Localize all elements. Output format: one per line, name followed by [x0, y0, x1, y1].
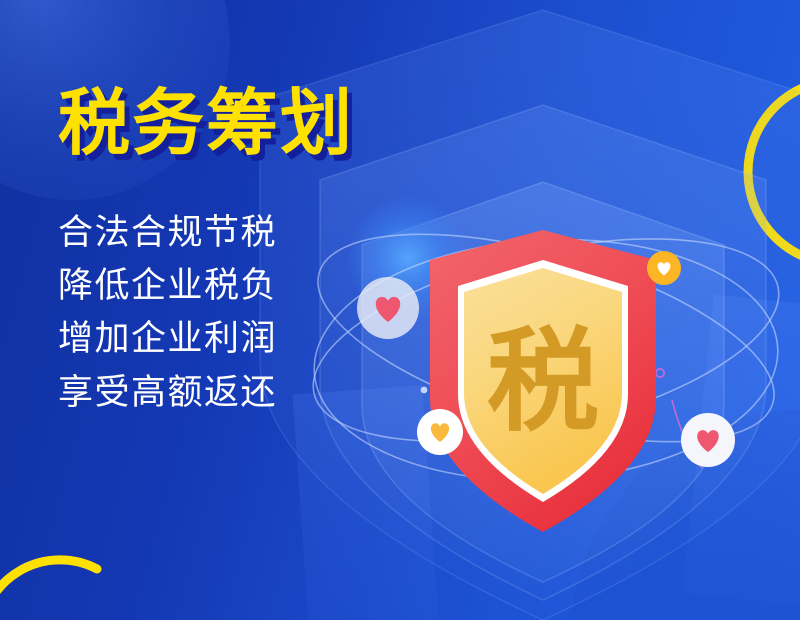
icon-badge-heart-gold-bottom: [417, 409, 463, 455]
icon-badge-heart-pink-right: [681, 413, 735, 467]
list-item: 享受高额返还: [58, 366, 378, 419]
benefit-list: 合法合规节税 降低企业税负 增加企业利润 享受高额返还: [58, 206, 378, 419]
decor-dot-small-1: [421, 387, 428, 394]
banner-text-column: 税务筹划 合法合规节税 降低企业税负 增加企业利润 享受高额返还: [58, 88, 378, 419]
tax-planning-banner: 税 税务筹划 合法合规节税 降低企业: [0, 0, 800, 620]
list-item: 合法合规节税: [58, 206, 378, 259]
page-title: 税务筹划: [58, 88, 378, 160]
icon-badge-heart-gold-top: [647, 251, 681, 285]
list-item: 降低企业税负: [58, 259, 378, 312]
decor-arc-yellow-bottom-left: [0, 560, 97, 620]
shield-tax-glyph: 税: [487, 319, 599, 444]
list-item: 增加企业利润: [58, 312, 378, 365]
